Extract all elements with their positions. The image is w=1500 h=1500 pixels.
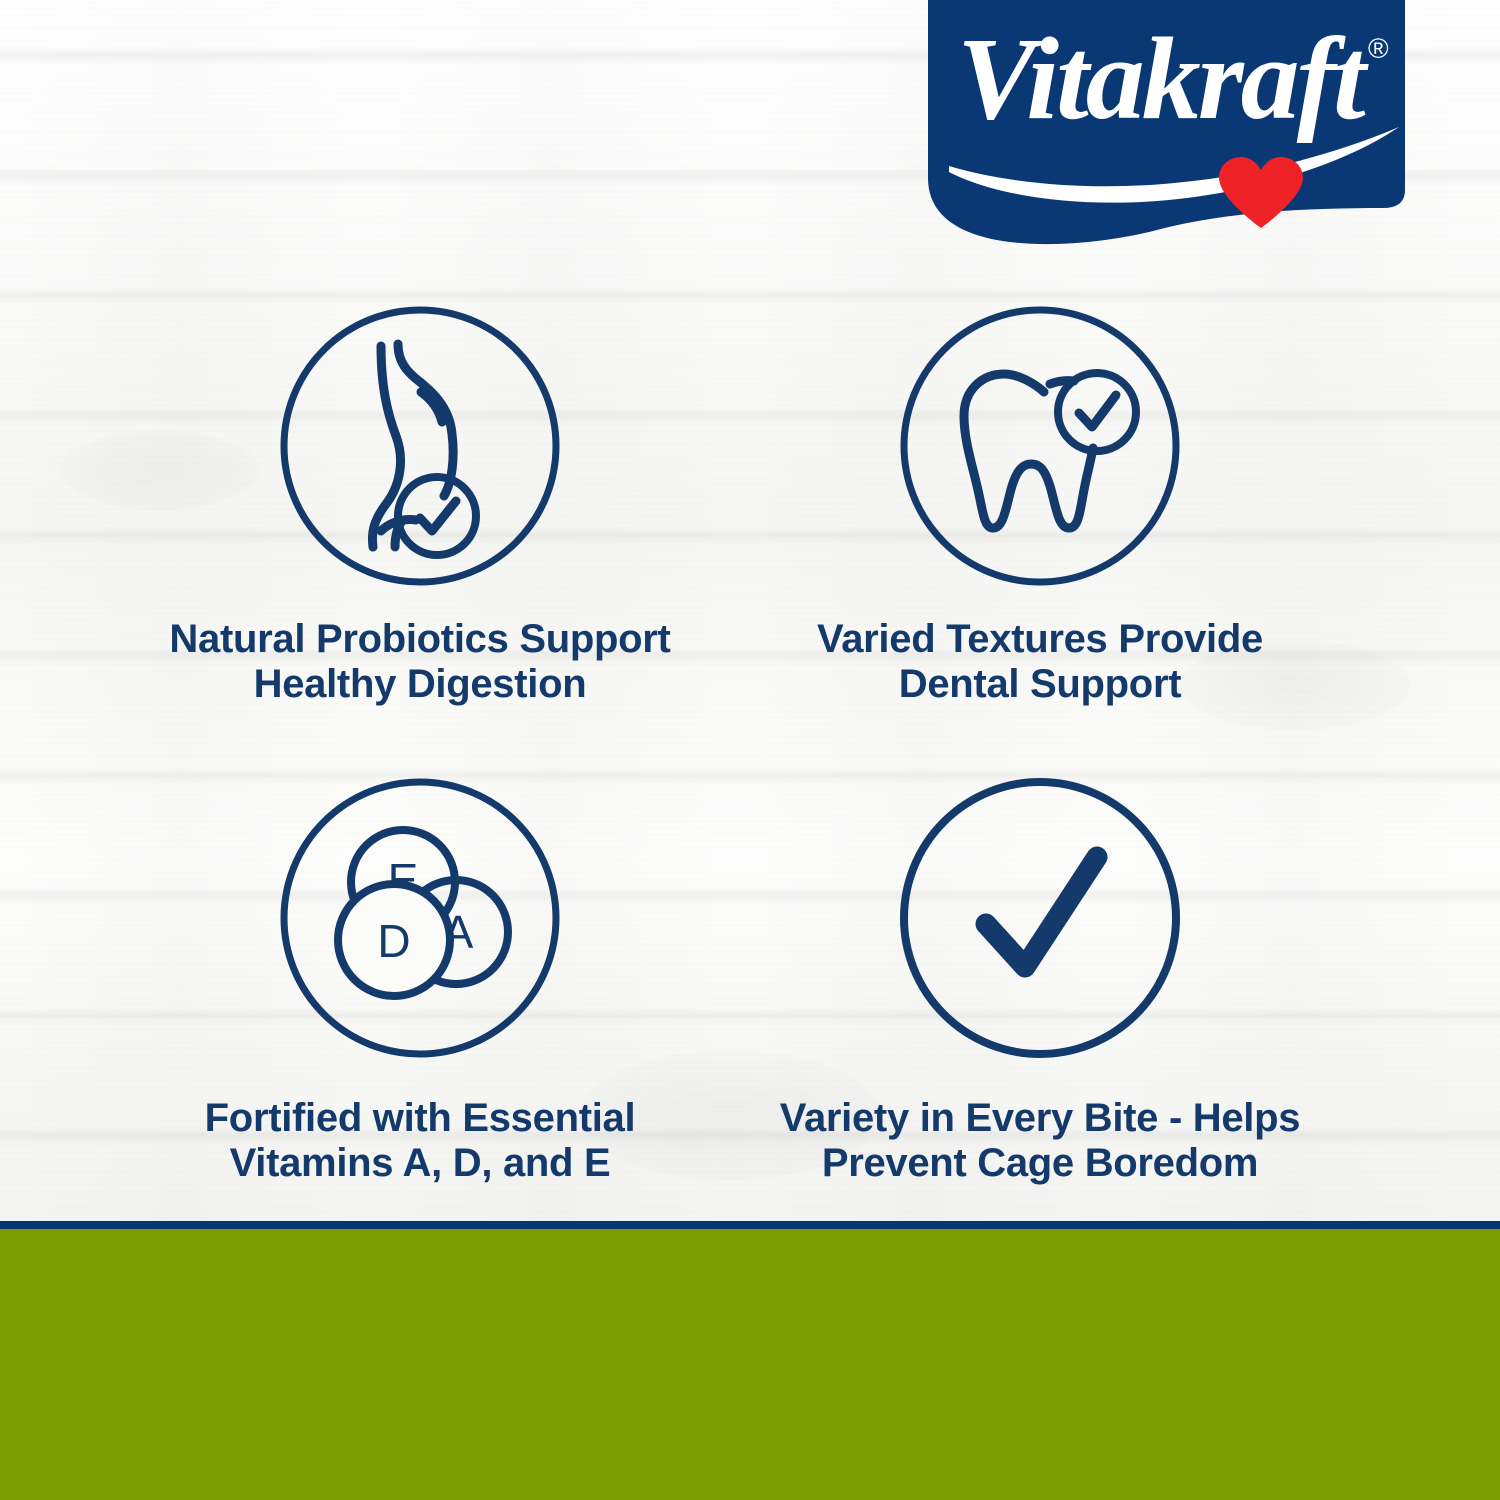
brand-wordmark: Vitakraft xyxy=(957,13,1369,144)
benefit-card-digestion: Natural Probiotics Support Healthy Diges… xyxy=(70,300,770,707)
blue-divider-band xyxy=(0,1221,1500,1229)
benefit-caption: Natural Probiotics Support Healthy Diges… xyxy=(70,617,770,707)
benefit-caption: Varied Textures Provide Dental Support xyxy=(690,617,1390,707)
benefit-caption: Variety in Every Bite - Helps Prevent Ca… xyxy=(690,1096,1390,1186)
product-benefits-panel: Vitakraft ® xyxy=(0,0,1500,1500)
benefit-card-vitamins: E A D Fortified with Essential Vitamins … xyxy=(70,770,770,1186)
stomach-check-icon xyxy=(274,300,566,592)
vitamin-label-d: D xyxy=(377,915,410,967)
green-footer-band xyxy=(0,1229,1500,1500)
tooth-check-icon xyxy=(894,300,1186,592)
benefit-card-variety: Variety in Every Bite - Helps Prevent Ca… xyxy=(690,770,1390,1186)
benefit-caption: Fortified with Essential Vitamins A, D, … xyxy=(70,1096,770,1186)
benefit-card-dental: Varied Textures Provide Dental Support xyxy=(690,300,1390,707)
vitakraft-brand-badge: Vitakraft ® xyxy=(925,0,1405,260)
checkmark-circle-icon xyxy=(894,772,1186,1064)
vitamin-bubbles-icon: E A D xyxy=(274,772,566,1064)
registered-trademark-mark: ® xyxy=(1368,33,1389,64)
benefits-grid: Natural Probiotics Support Healthy Diges… xyxy=(0,300,1500,1220)
